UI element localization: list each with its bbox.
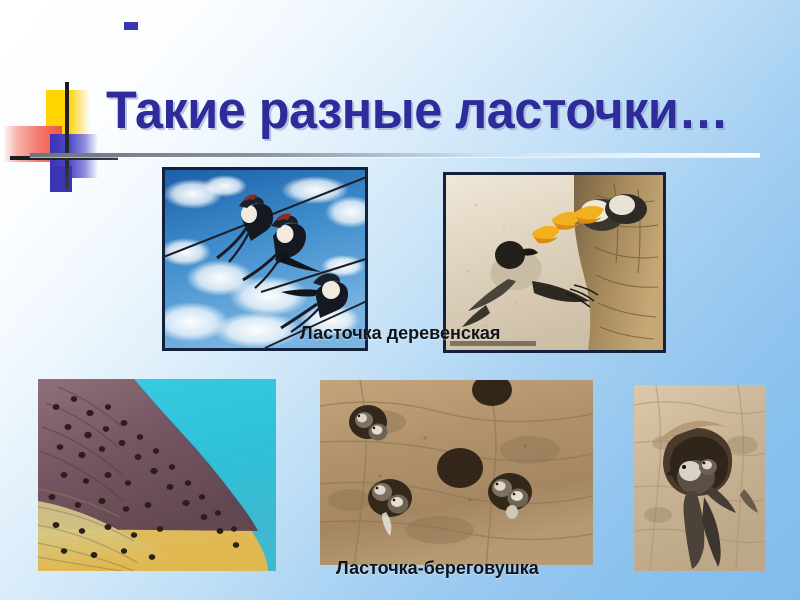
page-title: Такие разные ласточки… — [106, 80, 728, 142]
photo-sandy-cliff-with-burrows — [38, 379, 276, 571]
caption-sand-martin: Ласточка-береговушка — [336, 557, 539, 579]
blue-dot-icon — [124, 22, 138, 30]
caption-barn-swallow: Ласточка деревенская — [300, 322, 500, 344]
photo-martins-in-burrows — [320, 380, 593, 565]
title-divider — [30, 153, 760, 157]
vertical-line-icon — [65, 82, 69, 190]
slide-canvas: Такие разные ласточки… — [0, 0, 800, 600]
photo-martin-at-burrow-entrance — [634, 385, 765, 571]
decorative-squares-logo — [18, 78, 110, 174]
